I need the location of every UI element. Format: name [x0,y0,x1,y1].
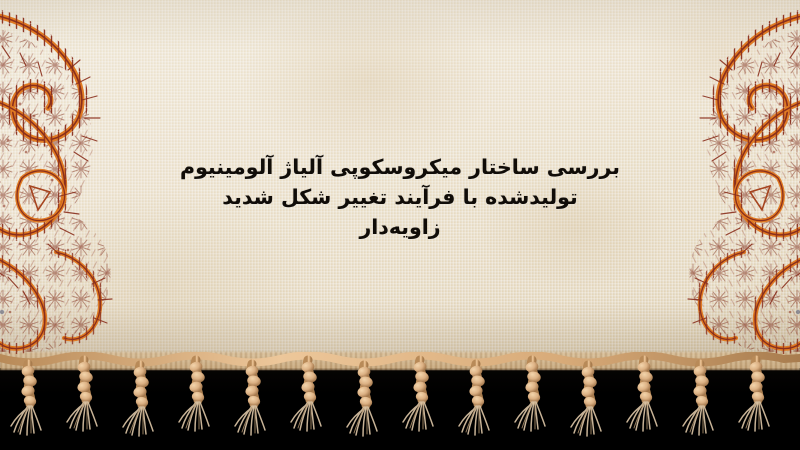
slide-canvas: بررسی ساختار میکروسکوپی آلیاژ آلومینیوم … [0,0,800,450]
title-line-1: بررسی ساختار میکروسکوپی آلیاژ آلومینیوم [170,152,630,182]
tassel-fringe [0,352,800,450]
slide-title: بررسی ساختار میکروسکوپی آلیاژ آلومینیوم … [170,152,630,242]
title-line-3: زاویه‌دار [170,212,630,242]
paisley-ornament-right [600,0,800,352]
title-line-2: تولیدشده با فرآیند تغییر شکل شدید [170,182,630,212]
fringe-header-cord [0,356,800,363]
tassel-row [11,360,769,436]
